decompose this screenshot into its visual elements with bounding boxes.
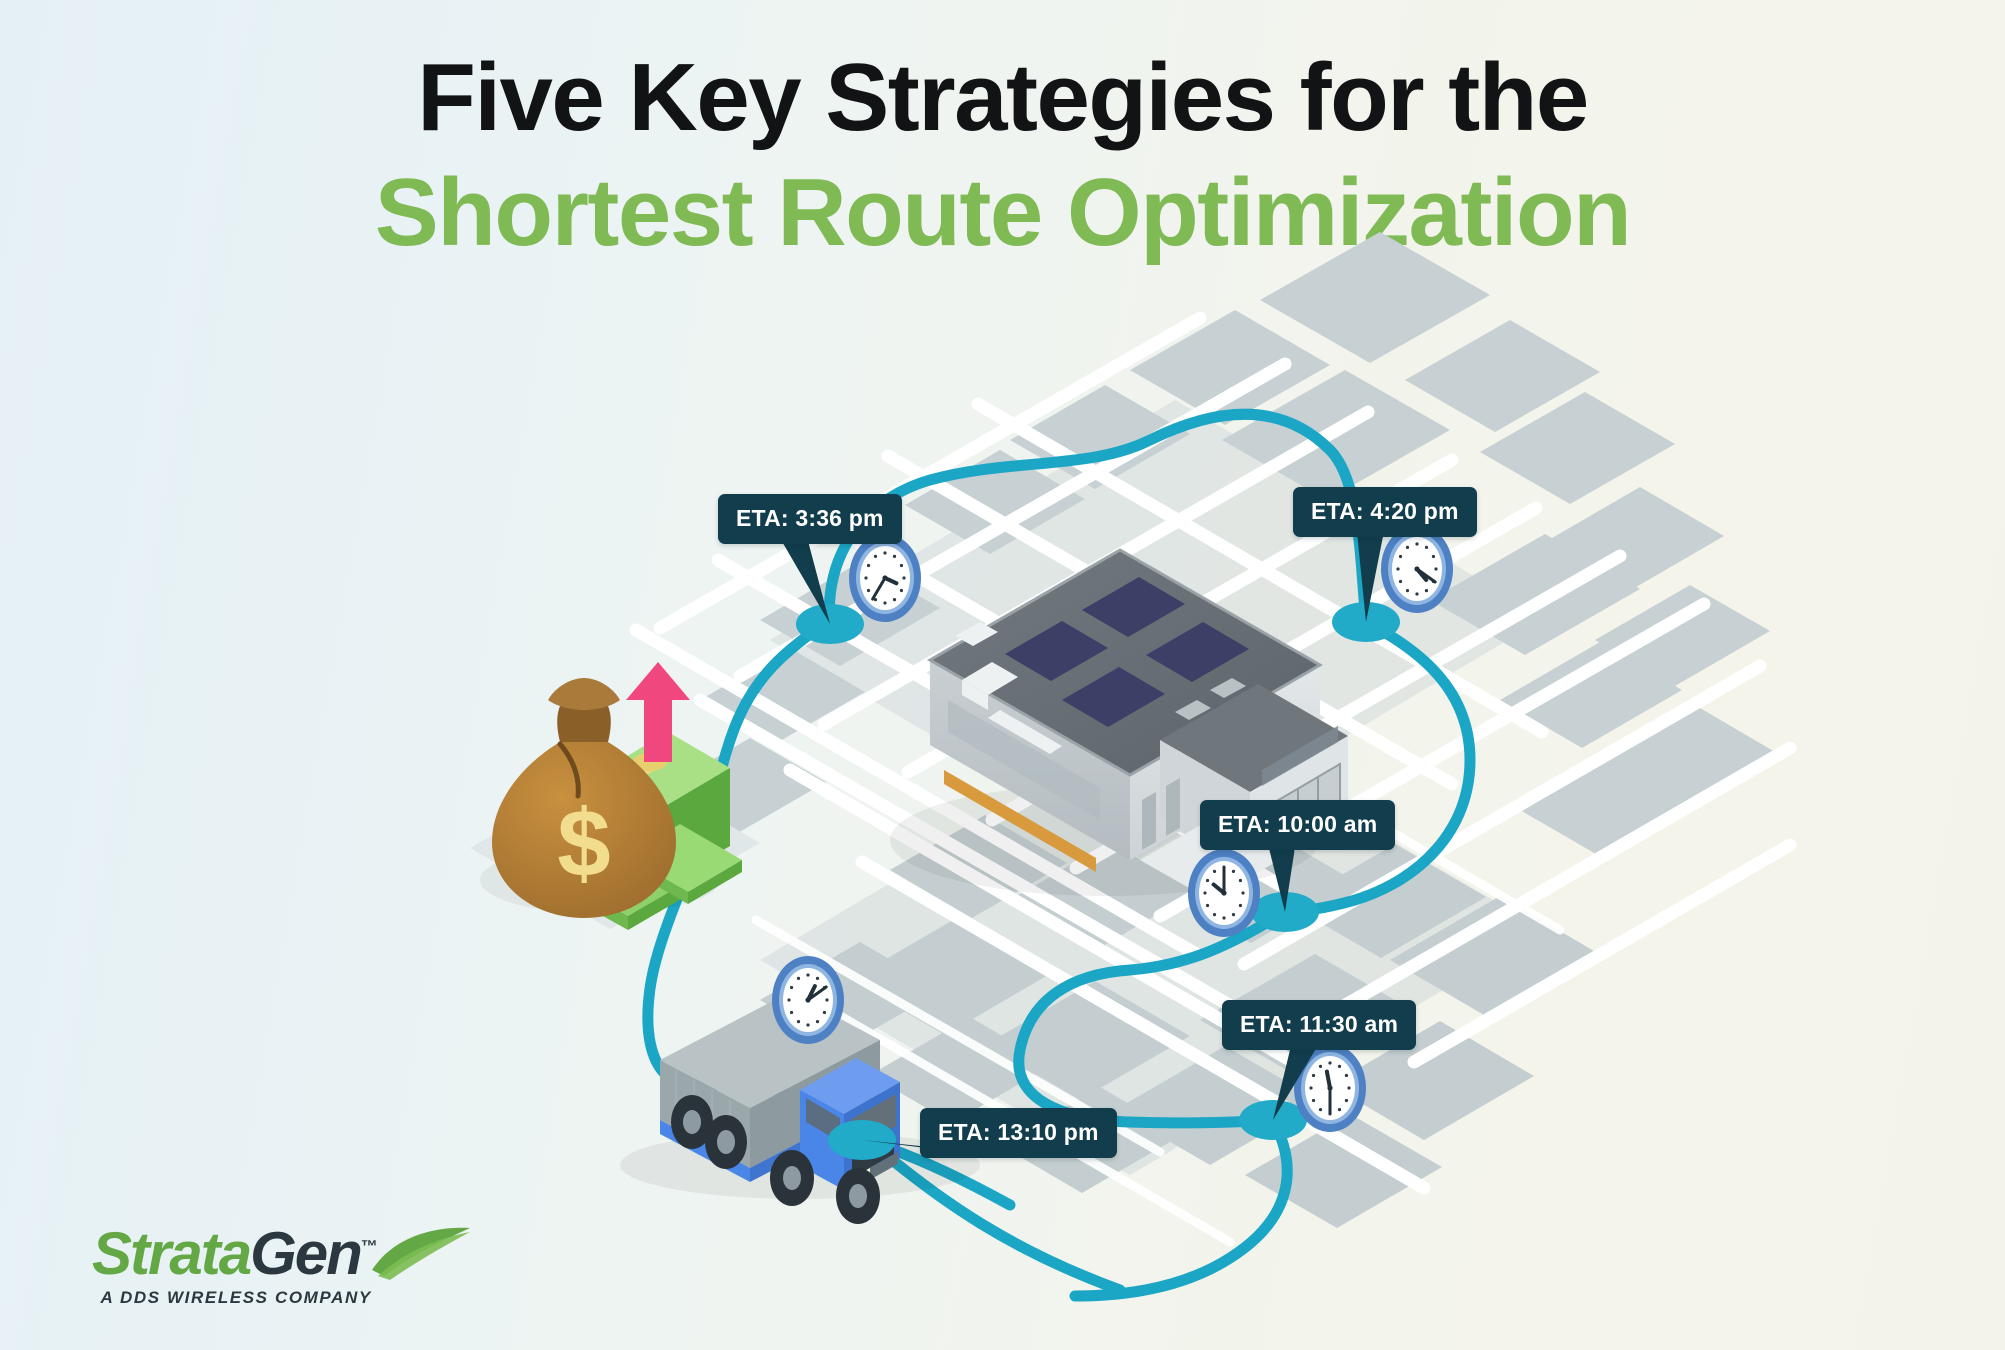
clock-icon: [1188, 849, 1260, 937]
logo-text-gen: Gen: [250, 1220, 361, 1287]
clock-icon: [1381, 525, 1453, 613]
eta-badge: ETA: 13:10 pm: [920, 1108, 1117, 1158]
eta-badge: ETA: 10:00 am: [1200, 800, 1395, 850]
stratagen-logo: StrataGen™ A DDS WIRELESS COMPANY: [92, 1224, 378, 1308]
eta-badge: ETA: 4:20 pm: [1293, 487, 1477, 537]
dollar-sign-icon: $: [557, 790, 610, 897]
eta-badge: ETA: 11:30 am: [1222, 1000, 1416, 1050]
eta-badge: ETA: 3:36 pm: [718, 494, 902, 544]
clock-icon: [772, 956, 844, 1044]
logo-wordmark: StrataGen™: [92, 1224, 378, 1284]
clock-icon: [849, 534, 921, 622]
infographic-canvas: Five Key Strategies for the Shortest Rou…: [0, 0, 2005, 1350]
logo-swoosh-icon: [370, 1226, 474, 1282]
logo-text-strata: Strata: [92, 1220, 250, 1287]
logo-tagline: A DDS WIRELESS COMPANY: [92, 1288, 378, 1308]
